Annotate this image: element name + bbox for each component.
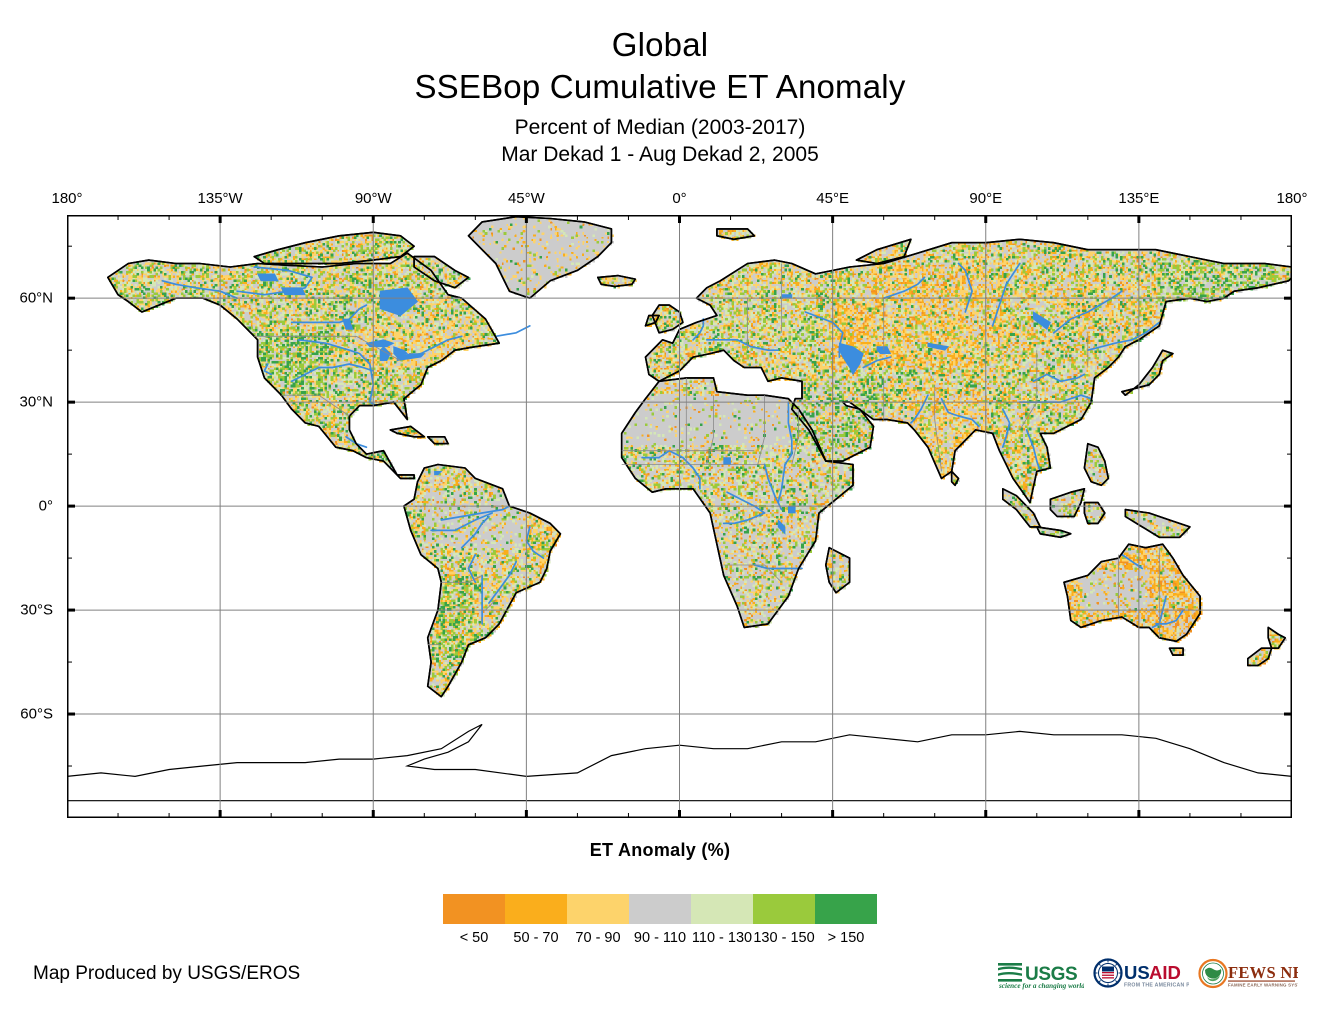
- lat-tick-label-4: 60°S: [0, 706, 53, 723]
- page-subtitle-1: Percent of Median (2003-2017): [0, 114, 1320, 141]
- lon-tick-label-5: 45°E: [816, 190, 849, 207]
- lake-lake-chad: [724, 458, 731, 465]
- legend-swatch-1: [505, 894, 567, 924]
- lat-tick-label-2: 0°: [0, 498, 53, 515]
- lon-tick-label-1: 135°W: [198, 190, 243, 207]
- lat-tick-label-0: 60°N: [0, 290, 53, 307]
- map-panel[interactable]: [67, 215, 1292, 818]
- lake-lake-victoria: [788, 506, 795, 513]
- lon-tick-label-3: 45°W: [508, 190, 545, 207]
- legend-swatch-0: [443, 894, 505, 924]
- world-map-svg[interactable]: [67, 215, 1292, 818]
- page-subtitle-2: Mar Dekad 1 - Aug Dekad 2, 2005: [0, 141, 1320, 168]
- usgs-logo[interactable]: USGS science for a changing world: [996, 957, 1084, 991]
- legend-label-4: 110 - 130: [691, 929, 753, 947]
- usaid-logo[interactable]: US AID FROM THE AMERICAN PEOPLE: [1093, 957, 1189, 991]
- svg-text:FAMINE EARLY WARNING SYSTEMS N: FAMINE EARLY WARNING SYSTEMS NETWORK: [1228, 983, 1298, 988]
- lon-tick-label-2: 90°W: [355, 190, 392, 207]
- svg-text:science for a changing world: science for a changing world: [998, 982, 1084, 990]
- legend-title: ET Anomaly (%): [0, 840, 1320, 861]
- fewsnet-logo[interactable]: FEWS NET FAMINE EARLY WARNING SYSTEMS NE…: [1198, 957, 1298, 991]
- logo-row: USGS science for a changing world US AID…: [996, 957, 1298, 991]
- legend-swatch-2: [567, 894, 629, 924]
- svg-text:US: US: [1124, 962, 1150, 983]
- lat-tick-label-1: 30°N: [0, 394, 53, 411]
- legend-swatch-3: [629, 894, 691, 924]
- legend-label-1: 50 - 70: [505, 929, 567, 947]
- lake-great-bear-lake: [258, 274, 278, 281]
- lon-tick-label-6: 90°E: [969, 190, 1002, 207]
- svg-text:FROM THE AMERICAN PEOPLE: FROM THE AMERICAN PEOPLE: [1124, 983, 1189, 989]
- legend-label-5: 130 - 150: [753, 929, 815, 947]
- svg-text:AID: AID: [1149, 962, 1181, 983]
- legend: ET Anomaly (%) < 5050 - 7070 - 9090 - 11…: [0, 840, 1320, 947]
- legend-label-6: > 150: [815, 929, 877, 947]
- legend-swatch-5: [753, 894, 815, 924]
- legend-color-bar: [443, 894, 877, 924]
- map-credit: Map Produced by USGS/EROS: [33, 963, 300, 985]
- lon-tick-label-4: 0°: [672, 190, 686, 207]
- lon-tick-label-8: 180°: [1276, 190, 1307, 207]
- legend-swatch-6: [815, 894, 877, 924]
- title-block: Global SSEBop Cumulative ET Anomaly Perc…: [0, 24, 1320, 168]
- legend-label-row: < 5050 - 7070 - 9090 - 110110 - 130130 -…: [443, 929, 877, 947]
- page-title-line2: SSEBop Cumulative ET Anomaly: [0, 66, 1320, 108]
- legend-label-0: < 50: [443, 929, 505, 947]
- lat-tick-label-3: 30°S: [0, 602, 53, 619]
- usaid-seal: [1095, 960, 1122, 987]
- svg-text:FEWS NET: FEWS NET: [1228, 963, 1298, 982]
- page-title-line1: Global: [0, 24, 1320, 66]
- lake-great-slave-lake: [281, 288, 305, 295]
- legend-label-3: 90 - 110: [629, 929, 691, 947]
- legend-label-2: 70 - 90: [567, 929, 629, 947]
- legend-swatch-4: [691, 894, 753, 924]
- lon-tick-label-0: 180°: [51, 190, 82, 207]
- lon-tick-label-7: 135°E: [1118, 190, 1159, 207]
- fewsnet-globe-icon: [1200, 960, 1227, 987]
